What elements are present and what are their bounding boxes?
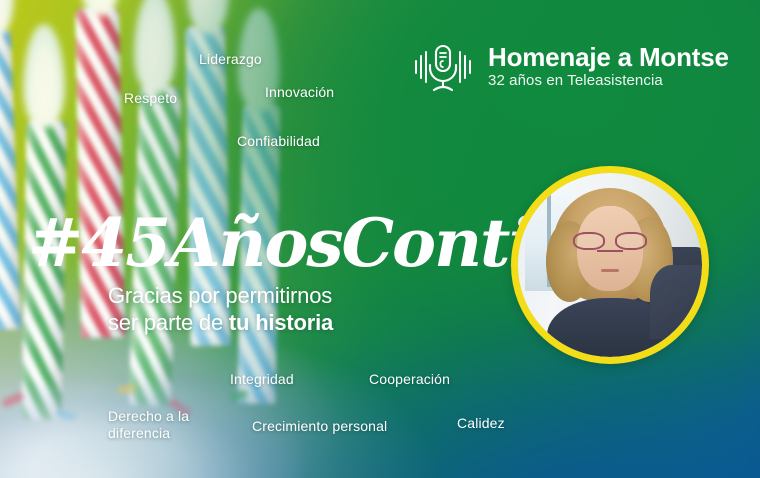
header-lockup: Homenaje a Montse 32 años en Teleasisten…: [412, 36, 729, 98]
photo-mouth: [601, 269, 619, 272]
photo-glasses: [573, 232, 647, 250]
value-word: Derecho a la diferencia: [108, 408, 189, 441]
value-word: Integridad: [230, 371, 294, 388]
value-word: Cooperación: [369, 371, 450, 388]
value-word: Innovación: [265, 84, 334, 101]
value-word: Calidez: [457, 415, 505, 432]
banner-canvas: Homenaje a Montse 32 años en Teleasisten…: [0, 0, 760, 478]
value-word: Respeto: [124, 90, 177, 107]
header-text-group: Homenaje a Montse 32 años en Teleasisten…: [488, 44, 729, 90]
value-word: Liderazgo: [199, 51, 262, 68]
glasses-bridge: [597, 250, 623, 252]
avatar: [511, 166, 709, 364]
microphone-icon: [412, 36, 474, 98]
glasses-lens-left: [573, 232, 605, 250]
glasses-lens-right: [615, 232, 647, 250]
tagline-line-1: Gracias por permitirnos: [108, 283, 333, 310]
tagline-line-2: ser parte de tu historia: [108, 310, 333, 337]
photo-arm: [650, 265, 702, 339]
tagline: Gracias por permitirnos ser parte de tu …: [108, 283, 333, 337]
page-subtitle: 32 años en Teleasistencia: [488, 73, 729, 90]
tagline-emphasis: tu historia: [229, 310, 333, 335]
value-word: Confiabilidad: [237, 133, 320, 150]
page-title: Homenaje a Montse: [488, 44, 729, 71]
value-word: Crecimiento personal: [252, 418, 387, 435]
avatar-photo: [518, 173, 702, 357]
tagline-line-2-plain: ser parte de: [108, 310, 229, 335]
hashtag-headline: #45AñosContigo: [28, 206, 508, 284]
